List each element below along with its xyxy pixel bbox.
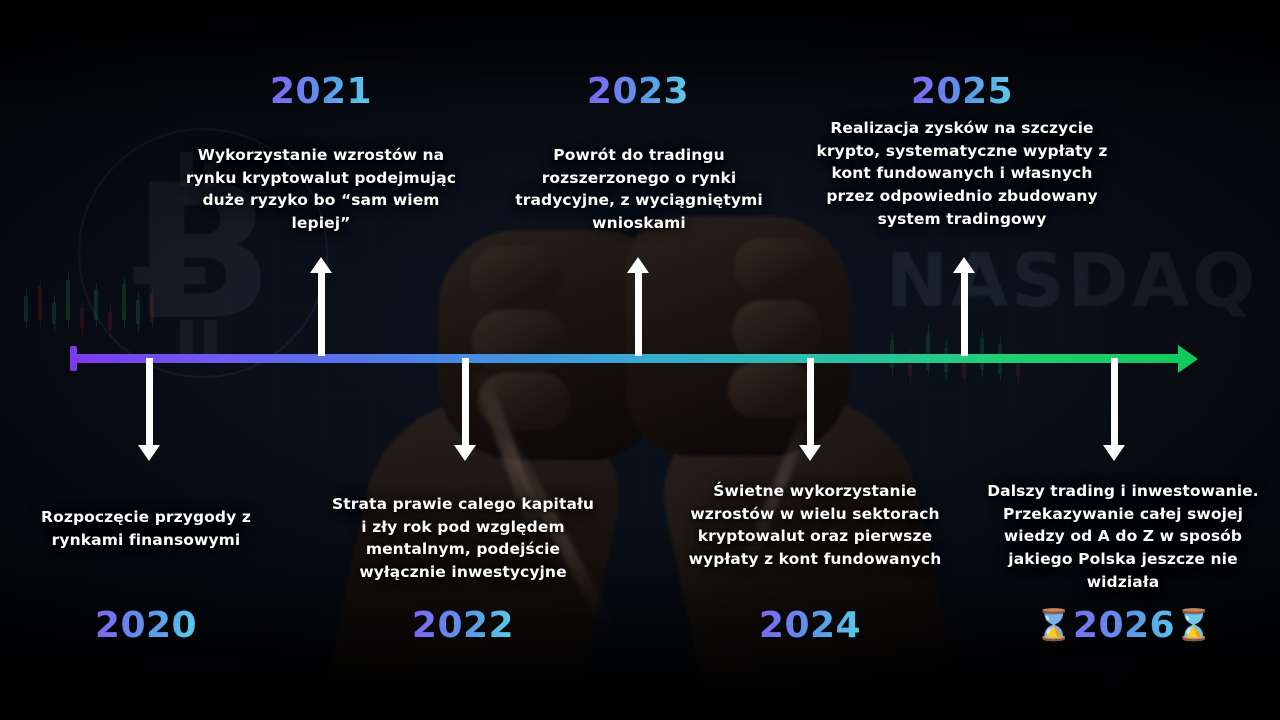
milestone-description-2022: Strata prawie calego kapitału i zły rok … xyxy=(327,493,599,584)
milestone-description-2025: Realizacja zysków na szczycie krypto, sy… xyxy=(815,117,1109,230)
connector-2026 xyxy=(1111,358,1118,446)
milestone-description-2023: Powrót do tradingu rozszerzonego o rynki… xyxy=(494,144,784,235)
connector-2022 xyxy=(462,358,469,446)
connector-2020 xyxy=(146,358,153,446)
connector-2024 xyxy=(807,358,814,446)
milestone-description-2024: Świetne wykorzystanie wzrostów w wielu s… xyxy=(670,480,960,571)
milestone-year-2023: 2023 xyxy=(558,74,718,110)
milestone-year-2022: 2022 xyxy=(383,608,543,644)
arrow-down-icon xyxy=(138,445,160,461)
milestone-year-2024: 2024 xyxy=(730,608,890,644)
milestone-description-2020: Rozpoczęcie przygody z rynkami finansowy… xyxy=(26,506,266,551)
milestone-year-2025: 2025 xyxy=(882,74,1042,110)
arrow-down-icon xyxy=(1103,445,1125,461)
infographic-canvas: Ƀ NASDAQ xyxy=(0,0,1280,720)
arrow-down-icon xyxy=(799,445,821,461)
arrow-up-icon xyxy=(310,257,332,273)
hourglass-icon-right: ⌛ xyxy=(1175,608,1213,643)
milestone-year-2026: ⌛2026⌛ xyxy=(1021,608,1227,644)
arrow-down-icon xyxy=(454,445,476,461)
timeline-axis xyxy=(73,354,1187,363)
arrow-up-icon xyxy=(627,257,649,273)
connector-2021 xyxy=(318,272,325,356)
milestone-description-2026: Dalszy trading i inwestowanie. Przekazyw… xyxy=(982,480,1264,593)
milestone-year-2026-text: 2026 xyxy=(1073,605,1175,646)
arrow-up-icon xyxy=(953,257,975,273)
milestone-description-2021: Wykorzystanie wzrostów na rynku kryptowa… xyxy=(176,144,466,235)
milestone-year-2021: 2021 xyxy=(241,74,401,110)
timeline-arrow-icon xyxy=(1178,345,1198,373)
hourglass-icon-left: ⌛ xyxy=(1035,608,1073,643)
connector-2023 xyxy=(635,272,642,356)
connector-2025 xyxy=(961,272,968,356)
milestone-year-2020: 2020 xyxy=(66,608,226,644)
